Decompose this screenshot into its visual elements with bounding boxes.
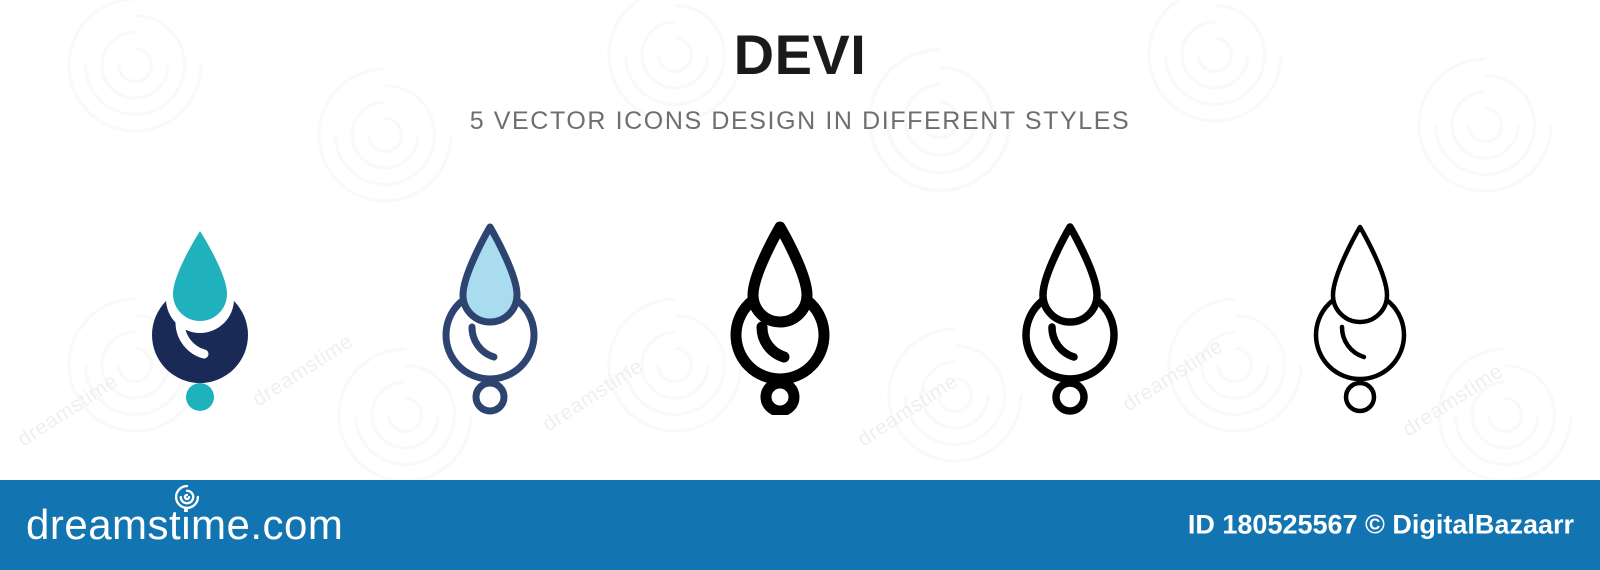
drop-shape bbox=[1333, 227, 1387, 322]
highlight-arc bbox=[1052, 327, 1074, 357]
devi-icon-thin-line[interactable] bbox=[1215, 205, 1505, 435]
page-header: DEVI 5 VECTOR ICONS DESIGN IN DIFFERENT … bbox=[0, 0, 1600, 136]
dreamstime-wordmark: dreamstime.com bbox=[26, 504, 343, 546]
devi-icon-thin-line-glyph bbox=[1295, 205, 1425, 415]
devi-icon-filled[interactable] bbox=[55, 205, 345, 435]
dot-shape bbox=[186, 383, 214, 411]
image-credit: ID 180525567 © DigitalBazaarr bbox=[1188, 510, 1574, 541]
devi-icon-bold-line[interactable] bbox=[635, 205, 925, 435]
dot-shape bbox=[476, 383, 504, 411]
devi-icon-bold-line-glyph bbox=[715, 205, 845, 415]
page-subtitle: 5 VECTOR ICONS DESIGN IN DIFFERENT STYLE… bbox=[0, 85, 1600, 136]
page-title: DEVI bbox=[0, 0, 1600, 85]
devi-icon-line[interactable] bbox=[925, 205, 1215, 435]
dot-shape bbox=[766, 383, 794, 411]
highlight-arc bbox=[762, 327, 784, 357]
drop-shape-top bbox=[173, 231, 227, 321]
devi-icon-line-glyph bbox=[1005, 205, 1135, 415]
dot-shape bbox=[1346, 383, 1374, 411]
devi-icon-two-color-glyph bbox=[425, 205, 555, 415]
icon-set-page: dreamstime dreamstime dreamstime dreamst… bbox=[0, 0, 1600, 570]
highlight-arc bbox=[1342, 327, 1364, 357]
dreamstime-logo[interactable]: dreamstime.com bbox=[26, 504, 343, 546]
dreamstime-spiral-icon bbox=[174, 484, 200, 510]
icon-variants-row bbox=[0, 205, 1600, 435]
stock-footer-banner: dreamstime.com ID 180525567 © DigitalBaz… bbox=[0, 480, 1600, 570]
dot-shape bbox=[1056, 383, 1084, 411]
drop-shape bbox=[1043, 227, 1097, 322]
drop-shape bbox=[463, 227, 517, 322]
devi-icon-two-color[interactable] bbox=[345, 205, 635, 435]
devi-icon-filled-glyph bbox=[135, 205, 265, 415]
drop-shape bbox=[753, 227, 807, 322]
